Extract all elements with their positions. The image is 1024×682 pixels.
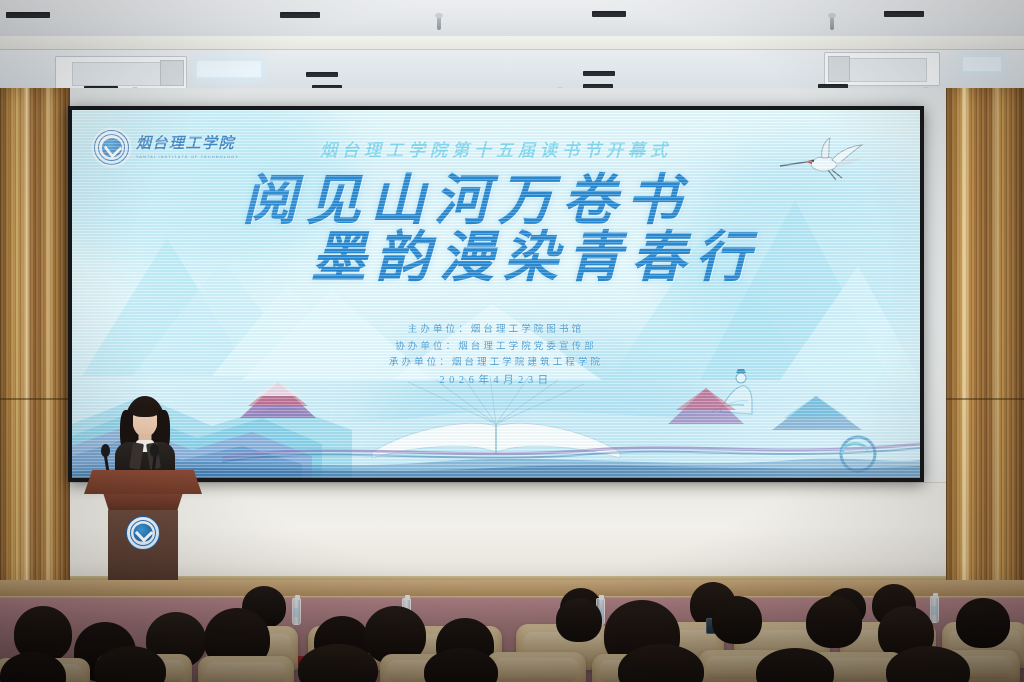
ceiling-upper-soffit [0,0,1024,36]
water-bottle-icon [930,596,939,623]
podium-neck [100,494,186,510]
podium-top-surface [84,470,202,494]
ceiling-vent-icon [583,71,615,76]
ceiling-downlight-icon [830,16,834,30]
organizer-co-host: 协办单位：烟台理工学院党委宣传部 [72,339,920,356]
auditorium-seat [198,656,294,682]
event-subtitle: 烟台理工学院第十五届读书节开幕式 [72,136,920,161]
ceiling-vent-icon [280,12,320,18]
ceiling-downlight-icon [437,16,441,30]
water-bottle-icon [292,598,301,625]
title-line-2: 墨韵漫染青春行 [150,229,920,286]
wood-panel-highlight [44,88,53,608]
audience-head [956,598,1010,648]
lectern-podium [84,470,202,586]
book-and-mountains-illustration [72,366,920,478]
presenter-fringe [131,404,159,417]
wood-panel-highlight [22,88,31,608]
auditorium-scene: 烟台理工学院 YANTAI INSTITUTE OF TECHNOLOGY [0,0,1024,682]
seal-mark-icon [134,524,153,542]
title-line-1: 阅见山河万卷书 [72,172,920,229]
auditorium-seat [486,652,586,682]
ac-grill-icon [828,56,850,82]
led-display-screen[interactable]: 烟台理工学院 YANTAI INSTITUTE OF TECHNOLOGY [72,110,920,478]
ceiling-vent-icon [592,11,626,17]
ceiling-panel-light [196,60,262,78]
ac-grill-icon [160,60,184,86]
main-title-block: 阅见山河万卷书 墨韵漫染青春行 [72,172,920,286]
led-display-frame: 烟台理工学院 YANTAI INSTITUTE OF TECHNOLOGY [68,106,924,482]
wood-panel-seam [946,398,1024,400]
wood-panel-highlight [960,88,969,608]
microphone-head-icon [150,444,159,457]
organizer-host: 主办单位：烟台理工学院图书馆 [72,322,920,339]
ceiling-panel-light [962,56,1002,72]
presenter-figure [112,396,178,478]
audience-head [712,596,762,644]
microphone-head-icon [101,444,110,457]
ceiling-vent-icon [884,11,924,17]
wood-wall-panel-left [0,88,70,608]
wood-panel-highlight [992,88,1001,608]
audience-head [806,596,862,648]
university-seal-icon [126,516,160,550]
audience-head [556,598,602,642]
ceiling-vent-icon [306,72,338,77]
wood-panel-seam [0,398,70,400]
organizers-block: 主办单位：烟台理工学院图书馆 协办单位：烟台理工学院党委宣传部 承办单位：烟台理… [72,322,920,372]
wood-wall-panel-right [946,88,1024,608]
ceiling-beam-band [0,36,1024,50]
ceiling-vent-icon [6,12,50,18]
